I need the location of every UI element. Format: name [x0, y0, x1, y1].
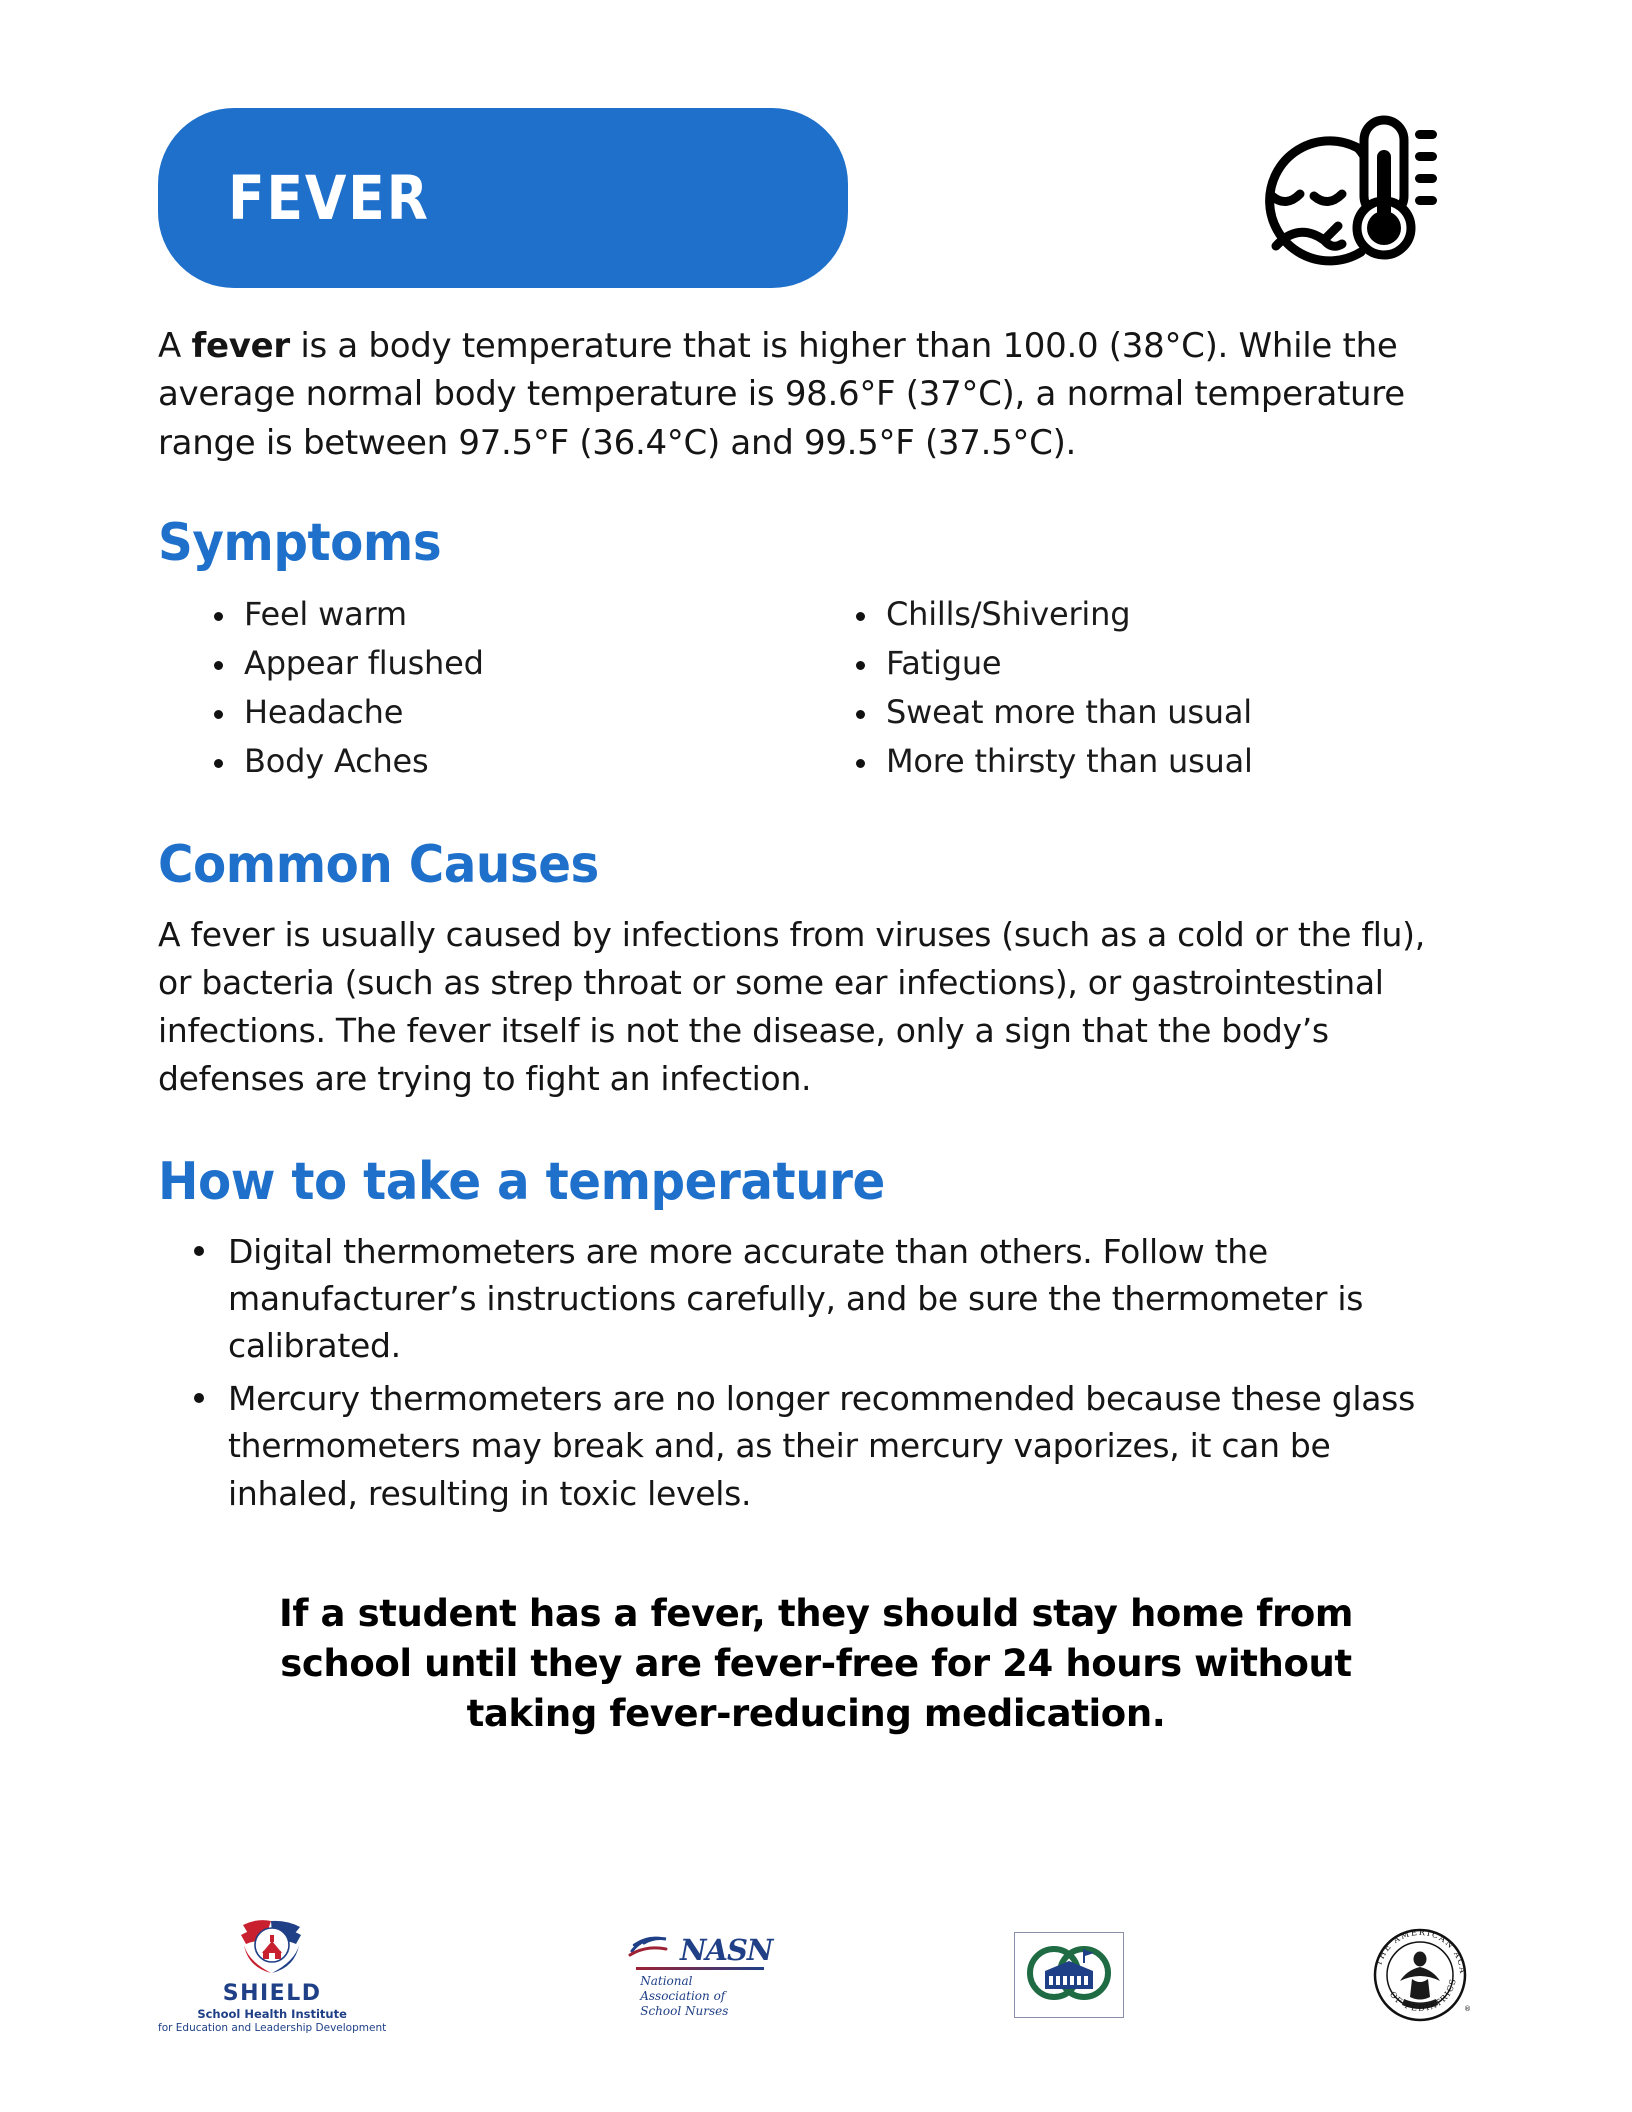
school-health-logo: schoolhouse-in-linked-circles-logo [1014, 1932, 1124, 2018]
common-causes-paragraph: A fever is usually caused by infections … [158, 911, 1458, 1104]
shield-logo: SHIELD School Health Institute for Educa… [158, 1915, 386, 2034]
common-causes-heading: Common Causes [158, 835, 1382, 895]
list-item: Body Aches [206, 742, 816, 781]
list-item: Chills/Shivering [848, 595, 1474, 634]
title-pill: FEVER [158, 108, 848, 288]
symptoms-columns: Feel warm Appear flushed Headache Body A… [158, 595, 1474, 791]
list-item: Mercury thermometers are no longer recom… [188, 1375, 1428, 1517]
list-item: More thirsty than usual [848, 742, 1474, 781]
nasn-wordmark: NASN [680, 1936, 772, 1965]
footer-logos: SHIELD School Health Institute for Educa… [158, 1915, 1474, 2034]
intro-paragraph: A fever is a body temperature that is hi… [158, 322, 1428, 467]
shield-subtitle-1: School Health Institute [197, 2007, 347, 2021]
school-health-logo-frame [1014, 1932, 1124, 2018]
how-to-take-temperature-heading: How to take a temperature [158, 1152, 1382, 1212]
callout-line: school until they are fever-free for 24 … [206, 1639, 1426, 1689]
stay-home-callout: If a student has a fever, they should st… [158, 1589, 1474, 1740]
symptoms-list-right: Chills/Shivering Fatigue Sweat more than… [848, 595, 1474, 781]
list-item: Digital thermometers are more accurate t… [188, 1228, 1428, 1370]
fact-sheet-page: FEVER [0, 0, 1632, 2112]
shield-wordmark: SHIELD [223, 1981, 322, 2006]
nasn-subtitle: National Association of School Nurses [640, 1974, 760, 2019]
callout-line: If a student has a fever, they should st… [206, 1589, 1426, 1639]
list-item: Headache [206, 693, 816, 732]
list-item: Sweat more than usual [848, 693, 1474, 732]
intro-rest: is a body temperature that is higher tha… [158, 326, 1405, 463]
page-header: FEVER [158, 0, 1474, 300]
intro-bold-term: fever [191, 326, 289, 366]
schoolhouse-linked-circles-icon [1021, 1939, 1117, 2007]
page-title: FEVER [228, 163, 430, 234]
list-item: Fatigue [848, 644, 1474, 683]
callout-line: taking fever-reducing medication. [206, 1689, 1426, 1739]
symptoms-column-right: Chills/Shivering Fatigue Sweat more than… [816, 595, 1474, 791]
american-academy-pediatrics-seal-icon: THE AMERICAN ACADEMY OF PEDIATRICS ® [1366, 1921, 1474, 2029]
shield-subtitle-2: for Education and Leadership Development [158, 2022, 386, 2034]
nasn-logo: NASN National Association of School Nurs… [628, 1931, 772, 2019]
aap-logo: THE AMERICAN ACADEMY OF PEDIATRICS ® ame… [1366, 1921, 1474, 2029]
list-item: Appear flushed [206, 644, 816, 683]
symptoms-heading: Symptoms [158, 513, 1382, 573]
list-item: Feel warm [206, 595, 816, 634]
nasn-swoosh-icon [628, 1931, 680, 1965]
svg-text:®: ® [1464, 2005, 1471, 2013]
symptoms-column-left: Feel warm Appear flushed Headache Body A… [158, 595, 816, 791]
shield-crest-icon [235, 1915, 309, 1979]
intro-prefix: A [158, 326, 191, 366]
sick-face-thermometer-icon [1210, 112, 1440, 292]
how-to-list: Digital thermometers are more accurate t… [158, 1228, 1474, 1517]
symptoms-list-left: Feel warm Appear flushed Headache Body A… [206, 595, 816, 781]
nasn-divider [636, 1967, 764, 1970]
